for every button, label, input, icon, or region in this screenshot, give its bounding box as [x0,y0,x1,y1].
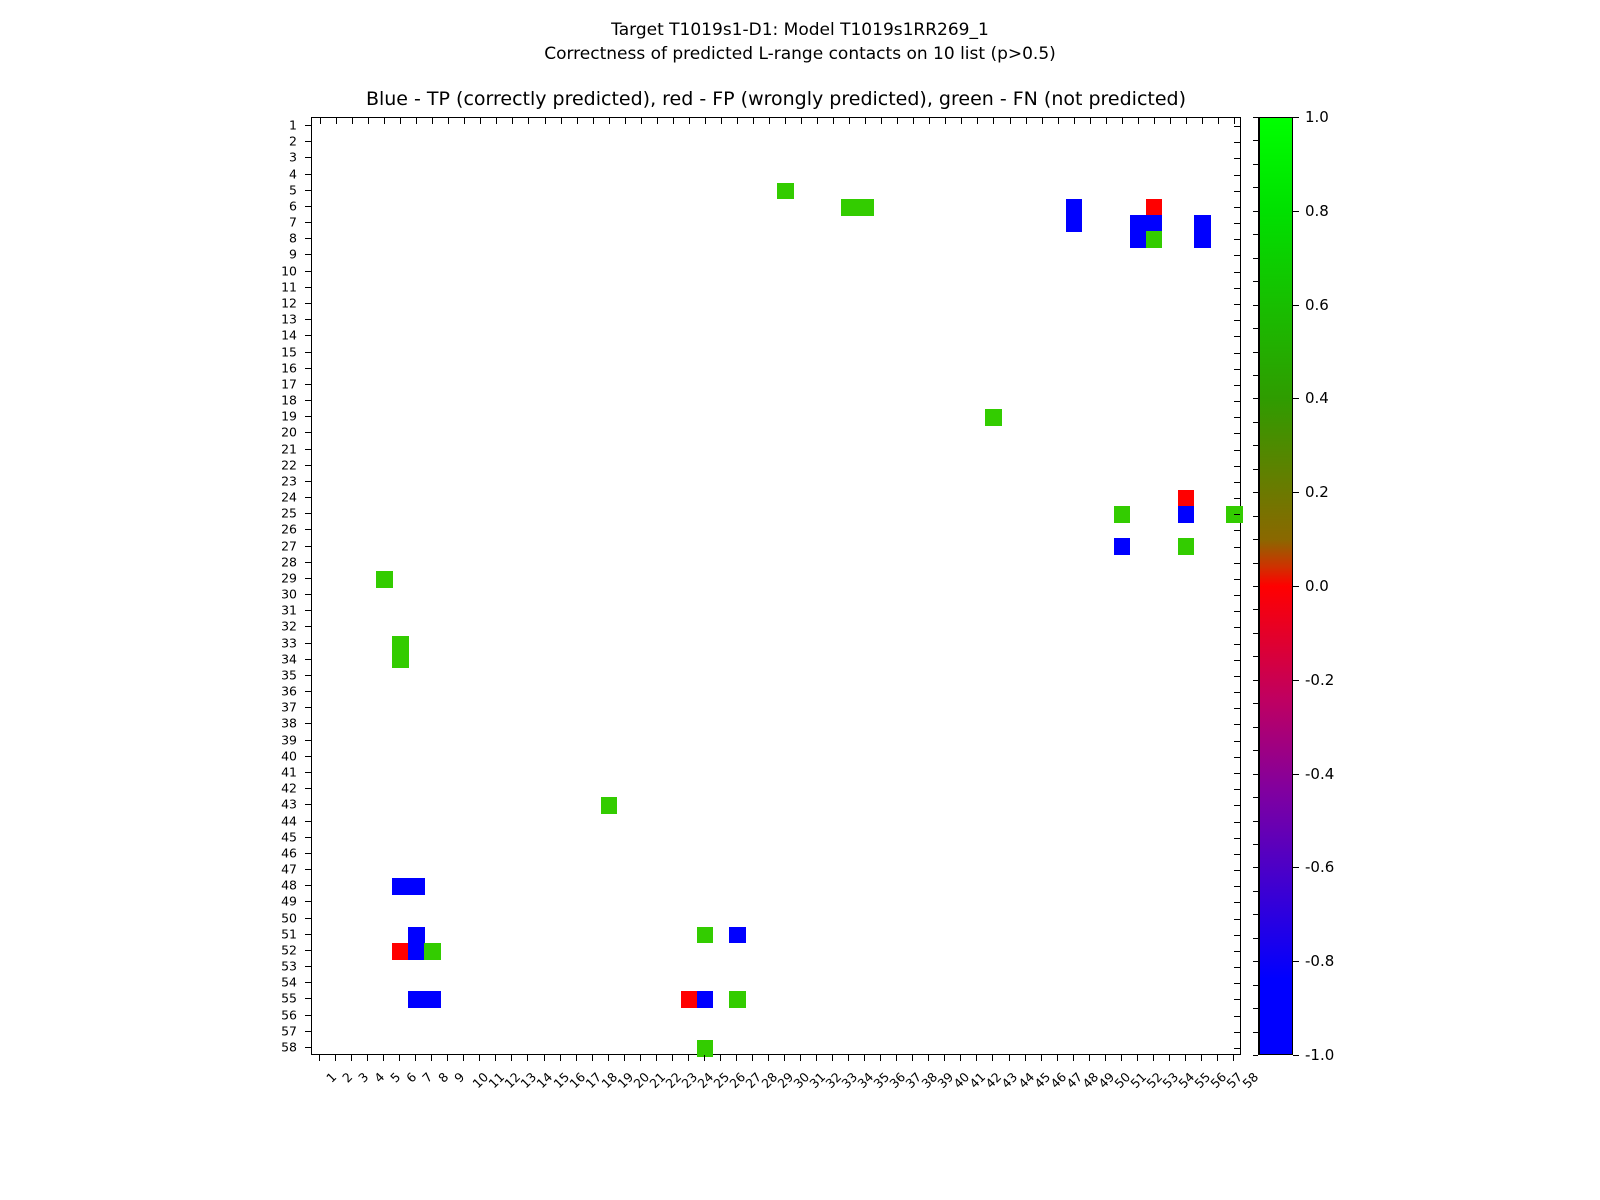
x-tick-label: 7 [419,1069,435,1085]
colorbar-minor-tick [1253,680,1258,681]
y-tick-label: 18 [281,393,297,408]
y-tick-label: 12 [281,295,297,310]
contact-cell-fn [1178,538,1195,555]
x-tick-mark [319,1055,320,1061]
x-tick-mark-top [1186,118,1187,124]
x-tick-mark-top [705,118,706,124]
x-tick-mark-top [1202,118,1203,124]
x-tick-mark [463,1055,464,1061]
x-tick-mark [560,1055,561,1061]
colorbar-tick-mark [1293,117,1299,118]
x-tick-mark-top [737,118,738,124]
colorbar-tick-label: -0.8 [1305,952,1334,970]
contact-cell-tp [729,927,746,944]
x-tick-mark-top [1170,118,1171,124]
y-tick-label: 44 [281,813,297,828]
x-tick-mark-top [416,118,417,124]
x-tick-mark [608,1055,609,1061]
contact-cell-fn [985,409,1002,426]
y-tick-label: 41 [281,764,297,779]
colorbar-minor-tick [1253,1008,1258,1009]
x-tick-label: 3 [355,1069,371,1085]
x-tick-mark [1233,1055,1234,1061]
contact-cell-fn [424,943,441,960]
x-tick-mark [367,1055,368,1061]
y-tick-label: 25 [281,506,297,521]
y-tick-label: 57 [281,1023,297,1038]
y-tick-label: 55 [281,991,297,1006]
contact-cell-fn [697,927,714,944]
contact-cell-tp [1194,231,1211,248]
y-tick-label: 3 [289,150,297,165]
contact-cell-tp [1066,215,1083,232]
colorbar-minor-tick [1253,797,1258,798]
colorbar-minor-ticks [1237,117,1259,1055]
x-tick-mark [1169,1055,1170,1061]
x-tick-mark-top [561,118,562,124]
x-tick-mark-top [1010,118,1011,124]
colorbar-tick-mark [1293,867,1299,868]
x-tick-mark [592,1055,593,1061]
x-tick-label: 8 [435,1069,451,1085]
x-tick-mark [399,1055,400,1061]
x-tick-mark-top [689,118,690,124]
y-tick-label: 29 [281,570,297,585]
contact-cell-tp [424,991,441,1008]
colorbar-minor-tick [1253,914,1258,915]
x-tick-mark-top [432,118,433,124]
colorbar-minor-tick [1253,633,1258,634]
x-tick-mark-top [625,118,626,124]
y-tick-label: 19 [281,409,297,424]
x-tick-mark-top [801,118,802,124]
y-tick-label: 32 [281,619,297,634]
x-tick-mark [351,1055,352,1061]
x-tick-mark-top [993,118,994,124]
x-tick-mark-top [528,118,529,124]
x-tick-mark [576,1055,577,1061]
colorbar-minor-tick [1253,821,1258,822]
contact-cell-tp [392,878,409,895]
y-tick-label: 51 [281,926,297,941]
y-tick-label: 48 [281,878,297,893]
x-tick-mark-top [464,118,465,124]
colorbar-tick-mark [1293,398,1299,399]
y-tick-label: 30 [281,587,297,602]
x-tick-mark-top [977,118,978,124]
x-tick-mark-top [400,118,401,124]
y-tick-label: 53 [281,959,297,974]
x-tick-mark [768,1055,769,1061]
x-tick-label: 2 [339,1069,355,1085]
x-tick-mark-top [753,118,754,124]
x-tick-mark-top [849,118,850,124]
x-tick-mark-top [512,118,513,124]
colorbar-tick-mark [1293,586,1299,587]
colorbar-minor-tick [1253,492,1258,493]
x-tick-mark-top [673,118,674,124]
colorbar-minor-tick [1253,586,1258,587]
colorbar-minor-tick [1253,938,1258,939]
x-tick-mark [544,1055,545,1061]
x-tick-mark [1089,1055,1090,1061]
contact-cell-fn [1146,231,1163,248]
x-tick-mark-top [1074,118,1075,124]
colorbar-minor-tick [1253,211,1258,212]
colorbar-tick-mark [1293,961,1299,962]
x-tick-mark [640,1055,641,1061]
axes-title-legend: Blue - TP (correctly predicted), red - F… [311,88,1241,110]
colorbar-tick-label: -0.4 [1305,765,1334,783]
x-tick-mark [784,1055,785,1061]
contact-cell-fp [1146,199,1163,216]
contact-cell-fn [1114,506,1131,523]
x-tick-mark [1121,1055,1122,1061]
colorbar-minor-tick [1253,656,1258,657]
x-tick-mark-top [1106,118,1107,124]
y-tick-label: 35 [281,667,297,682]
y-tick-label: 37 [281,700,297,715]
x-tick-mark-top [1234,118,1235,124]
y-tick-label: 56 [281,1007,297,1022]
x-tick-mark [1105,1055,1106,1061]
y-tick-label: 27 [281,538,297,553]
colorbar-minor-tick [1253,609,1258,610]
x-tick-mark [495,1055,496,1061]
contact-cell-fn [376,571,393,588]
contact-cell-tp [408,991,425,1008]
colorbar-minor-tick [1253,750,1258,751]
y-tick-label: 16 [281,360,297,375]
colorbar-minor-tick [1253,375,1258,376]
y-tick-label: 52 [281,942,297,957]
x-tick-mark [752,1055,753,1061]
y-tick-label: 14 [281,328,297,343]
contact-cell-fn [392,636,409,653]
colorbar-tick-label: 0.0 [1305,577,1329,595]
y-tick-label: 10 [281,263,297,278]
x-tick-mark [848,1055,849,1061]
y-tick-label: 17 [281,376,297,391]
colorbar-tick-label: 0.6 [1305,296,1329,314]
x-tick-mark [1057,1055,1058,1061]
x-tick-mark-top [336,118,337,124]
x-tick-mark-top [593,118,594,124]
x-tick-mark-top [320,118,321,124]
x-tick-label: 58 [1239,1069,1261,1091]
x-tick-mark-top [1154,118,1155,124]
y-tick-label: 46 [281,845,297,860]
x-tick-mark [928,1055,929,1061]
y-tick-label: 4 [289,166,297,181]
x-tick-mark-top [480,118,481,124]
y-tick-label: 47 [281,862,297,877]
x-tick-mark-top [785,118,786,124]
x-tick-mark-top [657,118,658,124]
colorbar-minor-tick [1253,985,1258,986]
x-tick-mark [912,1055,913,1061]
y-tick-label: 34 [281,651,297,666]
y-tick-label: 39 [281,732,297,747]
x-tick-mark-top [865,118,866,124]
colorbar-tick-mark [1293,211,1299,212]
x-tick-mark [944,1055,945,1061]
y-tick-label: 26 [281,522,297,537]
colorbar-minor-tick [1253,187,1258,188]
x-tick-mark-top [881,118,882,124]
x-tick-mark [656,1055,657,1061]
x-tick-mark-top [913,118,914,124]
colorbar-minor-tick [1253,703,1258,704]
y-tick-label: 36 [281,684,297,699]
colorbar-minor-tick [1253,398,1258,399]
x-tick-mark [992,1055,993,1061]
x-tick-mark-top [769,118,770,124]
x-tick-mark-top [929,118,930,124]
colorbar-minor-tick [1253,516,1258,517]
x-tick-mark [415,1055,416,1061]
x-tick-mark-top [641,118,642,124]
contact-cell-fn [729,991,746,1008]
colorbar-gradient [1259,117,1293,1055]
x-tick-mark [720,1055,721,1061]
y-tick-label: 40 [281,748,297,763]
colorbar-tick-label: 1.0 [1305,108,1329,126]
colorbar-tick-mark [1293,305,1299,306]
colorbar-minor-tick [1253,774,1258,775]
contact-cell-tp [1130,215,1147,232]
x-tick-mark [688,1055,689,1061]
x-tick-mark [431,1055,432,1061]
x-tick-mark-top [817,118,818,124]
x-tick-mark-top [945,118,946,124]
x-tick-mark-top [577,118,578,124]
colorbar-minor-tick [1253,891,1258,892]
y-tick-label: 2 [289,134,297,149]
x-tick-mark-top [1122,118,1123,124]
colorbar-tick-label: 0.4 [1305,389,1329,407]
colorbar-tick-mark [1293,774,1299,775]
y-tick-label: 28 [281,554,297,569]
x-tick-mark-top [961,118,962,124]
x-tick-mark [704,1055,705,1061]
x-tick-mark [672,1055,673,1061]
x-tick-mark [383,1055,384,1061]
contact-cell-tp [408,943,425,960]
colorbar-minor-tick [1253,352,1258,353]
colorbar-minor-tick [1253,867,1258,868]
contact-cell-tp [1146,215,1163,232]
colorbar-minor-tick [1253,539,1258,540]
y-tick-label: 9 [289,247,297,262]
x-tick-mark [800,1055,801,1061]
x-tick-mark-top [1218,118,1219,124]
contact-cell-tp [1178,506,1195,523]
x-tick-mark [1153,1055,1154,1061]
y-tick-label: 15 [281,344,297,359]
colorbar-minor-tick [1253,117,1258,118]
contact-cell-tp [1066,199,1083,216]
contact-cell-tp [697,991,714,1008]
contact-map-cells [312,118,1240,1054]
x-tick-mark [976,1055,977,1061]
colorbar-tick-label: 0.8 [1305,202,1329,220]
y-tick-label: 49 [281,894,297,909]
x-tick-mark-top [609,118,610,124]
contact-cell-fp [1178,490,1195,507]
figure-suptitle: Target T1019s1-D1: Model T1019s1RR269_1 … [0,18,1600,66]
contact-cell-tp [408,927,425,944]
contact-cell-fp [681,991,698,1008]
x-tick-mark [335,1055,336,1061]
contact-cell-fn [777,183,794,200]
colorbar-tick-mark [1293,680,1299,681]
colorbar-tick-label: -0.6 [1305,858,1334,876]
x-tick-mark [1201,1055,1202,1061]
contact-map-plot[interactable] [311,117,1241,1055]
contact-cell-fn [392,652,409,669]
x-tick-mark [447,1055,448,1061]
x-tick-mark [832,1055,833,1061]
x-tick-mark [1041,1055,1042,1061]
y-tick-label: 21 [281,441,297,456]
x-tick-mark-top [833,118,834,124]
x-tick-mark-top [448,118,449,124]
y-tick-label: 50 [281,910,297,925]
y-tick-label: 23 [281,473,297,488]
y-tick-label: 7 [289,215,297,230]
x-tick-mark [1025,1055,1026,1061]
x-tick-label: 6 [403,1069,419,1085]
colorbar-tick-mark [1293,1055,1299,1056]
y-tick-label: 45 [281,829,297,844]
x-tick-mark-top [1138,118,1139,124]
y-tick-label: 38 [281,716,297,731]
colorbar-tick-mark [1293,492,1299,493]
suptitle-line-1: Target T1019s1-D1: Model T1019s1RR269_1 [0,18,1600,42]
y-tick-label: 42 [281,781,297,796]
x-tick-mark-top [545,118,546,124]
x-tick-mark [624,1055,625,1061]
colorbar-minor-tick [1253,1032,1258,1033]
colorbar-minor-tick [1253,140,1258,141]
x-tick-mark-top [1042,118,1043,124]
x-tick-mark [1073,1055,1074,1061]
contact-cell-fp [392,943,409,960]
colorbar-minor-tick [1253,422,1258,423]
y-tick-label: 54 [281,975,297,990]
x-tick-mark-top [352,118,353,124]
x-tick-mark-top [496,118,497,124]
colorbar-minor-tick [1253,469,1258,470]
colorbar-minor-tick [1253,1055,1258,1056]
y-tick-label: 11 [281,279,297,294]
x-tick-mark [960,1055,961,1061]
contact-cell-tp [408,878,425,895]
x-tick-mark-top [384,118,385,124]
colorbar-minor-tick [1253,844,1258,845]
contact-cell-tp [1130,231,1147,248]
colorbar-tick-label: 0.2 [1305,483,1329,501]
x-tick-label: 9 [451,1069,467,1085]
colorbar-minor-tick [1253,727,1258,728]
y-tick-label: 58 [281,1039,297,1054]
x-tick-mark [896,1055,897,1061]
colorbar-minor-tick [1253,164,1258,165]
x-tick-mark [1009,1055,1010,1061]
y-tick-label: 13 [281,312,297,327]
colorbar-tick-label: -0.2 [1305,671,1334,689]
colorbar-minor-tick [1253,305,1258,306]
y-tick-label: 22 [281,457,297,472]
x-tick-mark [864,1055,865,1061]
y-tick-label: 43 [281,797,297,812]
colorbar[interactable]: 1.00.80.60.40.20.0-0.2-0.4-0.6-0.8-1.0 [1259,117,1379,1055]
colorbar-minor-tick [1253,258,1258,259]
x-tick-mark-top [1058,118,1059,124]
x-tick-mark [1217,1055,1218,1061]
y-tick-label: 5 [289,182,297,197]
suptitle-line-2: Correctness of predicted L-range contact… [0,42,1600,66]
y-tick-label: 20 [281,425,297,440]
x-axis: 1234567891011121314151617181920212223242… [311,1055,1241,1195]
x-tick-mark [527,1055,528,1061]
x-tick-mark [736,1055,737,1061]
x-tick-mark [511,1055,512,1061]
contact-cell-fn [601,797,618,814]
contact-cell-tp [1114,538,1131,555]
x-tick-mark [479,1055,480,1061]
x-tick-mark [880,1055,881,1061]
x-tick-mark [1185,1055,1186,1061]
x-tick-mark [816,1055,817,1061]
x-tick-mark-top [1090,118,1091,124]
y-tick-label: 6 [289,198,297,213]
x-tick-label: 4 [371,1069,387,1085]
colorbar-minor-tick [1253,328,1258,329]
colorbar-minor-tick [1253,445,1258,446]
colorbar-minor-tick [1253,961,1258,962]
x-tick-label: 5 [387,1069,403,1085]
x-tick-mark [1137,1055,1138,1061]
x-tick-mark-top [897,118,898,124]
y-tick-label: 31 [281,603,297,618]
colorbar-minor-tick [1253,563,1258,564]
x-tick-mark-top [721,118,722,124]
x-tick-mark-top [1026,118,1027,124]
contact-cell-fn [841,199,858,216]
x-tick-label: 1 [323,1069,339,1085]
colorbar-minor-tick [1253,234,1258,235]
y-tick-label: 33 [281,635,297,650]
contact-cell-fn [857,199,874,216]
contact-cell-tp [1194,215,1211,232]
x-tick-mark-top [368,118,369,124]
colorbar-tick-label: -1.0 [1305,1046,1334,1064]
y-tick-label: 1 [289,118,297,133]
y-axis: 1234567891011121314151617181920212223242… [0,117,311,1055]
y-tick-label: 24 [281,490,297,505]
colorbar-minor-tick [1253,281,1258,282]
y-tick-label: 8 [289,231,297,246]
